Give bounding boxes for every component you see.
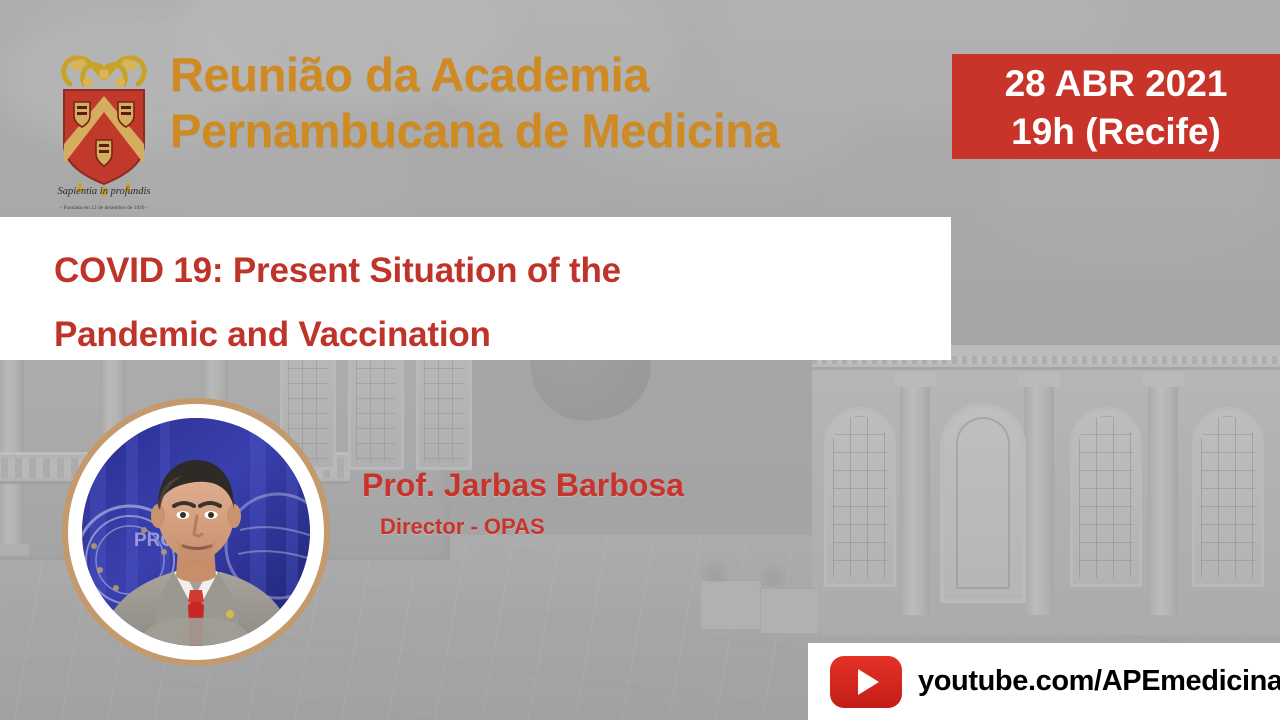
event-time: 19h (Recife) <box>952 108 1280 156</box>
play-triangle-icon <box>858 669 879 695</box>
lecture-title-line-1: COVID 19: Present Situation of the <box>54 239 951 303</box>
speaker-role: Director - OPAS <box>380 513 545 541</box>
academy-crest-logo: Sapientia in profundis - Fundada em 12 d… <box>44 40 164 200</box>
speaker-portrait: PRO <box>62 398 330 666</box>
lecture-title-line-2: Pandemic and Vaccination <box>54 303 951 367</box>
crest-motto: Sapientia in profundis <box>58 186 151 197</box>
youtube-channel-url[interactable]: youtube.com/APEmedicina <box>918 665 1280 698</box>
organization-title-line-1: Reunião da Academia <box>170 47 940 103</box>
organization-title: Reunião da Academia Pernambucana de Medi… <box>170 47 940 159</box>
youtube-icon[interactable] <box>830 656 902 708</box>
crest-founded-line: - Fundada em 12 de dezembro de 1920 - <box>44 205 164 211</box>
speaker-name: Prof. Jarbas Barbosa <box>362 466 684 504</box>
lecture-title-band: COVID 19: Present Situation of the Pande… <box>0 217 951 360</box>
portrait-photo: PRO <box>82 418 310 646</box>
youtube-bar[interactable]: youtube.com/APEmedicina <box>808 643 1280 720</box>
date-time-badge: 28 ABR 2021 19h (Recife) <box>952 54 1280 159</box>
event-date: 28 ABR 2021 <box>952 60 1280 108</box>
event-poster: Sapientia in profundis - Fundada em 12 d… <box>0 0 1280 720</box>
organization-title-line-2: Pernambucana de Medicina <box>170 103 940 159</box>
